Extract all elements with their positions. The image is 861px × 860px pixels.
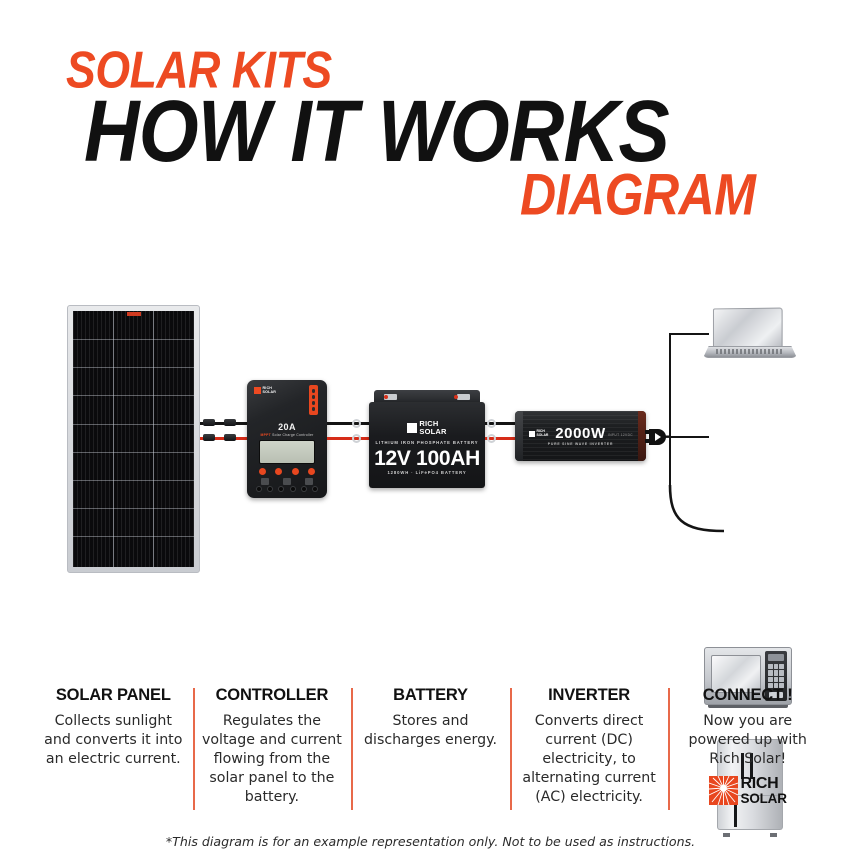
mc4-connector-negative-a	[203, 419, 215, 426]
controller-to-battery-wire-positive	[327, 437, 371, 440]
diagram-area: RICH SOLAR 20A MPPT Solar Charge Control…	[0, 250, 861, 680]
solar-panel-gridline-h	[73, 536, 194, 537]
controller-brand-text: RICH SOLAR	[263, 387, 277, 395]
footnote-disclaimer: *This diagram is for an example represen…	[0, 834, 861, 849]
battery-capacity-label: 1280WH · LiFePO4 BATTERY	[369, 470, 485, 475]
controller-led	[312, 395, 316, 399]
rich-solar-sunburst-icon	[709, 776, 738, 805]
microwave-key[interactable]	[768, 664, 773, 669]
controller-port	[301, 486, 307, 492]
column-title: INVERTER	[516, 686, 663, 705]
solar-panel-gridline-h	[73, 339, 194, 340]
mc4-connector-positive-b	[224, 434, 236, 441]
battery-body: RICH SOLAR LITHIUM IRON PHOSPHATE BATTER…	[369, 402, 485, 488]
inverter-side-label: INPUT 12VDC	[608, 433, 633, 437]
controller-status-icons	[261, 478, 313, 485]
column-title: SOLAR PANEL	[40, 686, 187, 705]
controller-led	[312, 401, 316, 405]
battery-rating-label: 12V 100AH	[369, 447, 485, 471]
battery-brand-logo: RICH SOLAR	[369, 420, 485, 435]
logo-line-solar: SOLAR	[741, 792, 787, 805]
microwave-key[interactable]	[768, 670, 773, 675]
rich-solar-logo: RICH SOLAR	[700, 776, 796, 805]
column-description: Now you are powered up with Rich Solar!	[674, 712, 821, 769]
battery: RICH SOLAR LITHIUM IRON PHOSPHATE BATTER…	[369, 390, 485, 488]
controller-button-row[interactable]	[259, 468, 315, 475]
controller-lcd-display	[259, 440, 315, 464]
solar-panel-gridline-h	[73, 395, 194, 396]
solar-kit-diagram-page: SOLAR KITS HOW IT WORKS DIAGRAM	[0, 0, 861, 860]
battery-chemistry-label: LITHIUM IRON PHOSPHATE BATTERY	[369, 440, 485, 445]
battery-status-icon	[283, 478, 291, 485]
inverter-type-label: PURE SINE WAVE INVERTER	[515, 442, 646, 446]
controller-port	[267, 486, 273, 492]
column-controller: CONTROLLER Regulates the voltage and cur…	[193, 686, 352, 807]
battery-terminal-positive	[457, 394, 470, 400]
microwave-key[interactable]	[779, 677, 784, 682]
controller-led	[312, 389, 316, 393]
controller-amperage-label: 20A	[247, 422, 327, 432]
solar-panel-gridline-h	[73, 452, 194, 453]
column-inverter: INVERTER Converts direct current (DC) el…	[510, 686, 669, 807]
ring-terminal-negative-right	[487, 419, 496, 428]
solar-panel	[67, 305, 200, 573]
rich-solar-mark-icon	[407, 423, 417, 433]
controller-type-label: MPPT Solar Charge Controller	[247, 433, 327, 437]
explanation-columns: SOLAR PANEL Collects sunlight and conver…	[34, 686, 827, 807]
title-subtitle: DIAGRAM	[520, 166, 755, 224]
ring-terminal-positive-left	[352, 434, 361, 443]
column-connect: CONNECT ! Now you are powered up with Ri…	[668, 686, 827, 807]
solar-panel-gridline-h	[73, 367, 194, 368]
column-description: Stores and discharges energy.	[357, 712, 504, 750]
mc4-connector-positive-a	[203, 434, 215, 441]
ac-branch-wire-refrigerator	[660, 485, 730, 543]
controller-port	[256, 486, 262, 492]
column-description: Converts direct current (DC) electricity…	[516, 712, 663, 807]
title-block: SOLAR KITS HOW IT WORKS DIAGRAM	[0, 0, 861, 235]
solar-panel-busbar-tab	[127, 312, 141, 316]
microwave-display	[768, 654, 784, 661]
microwave-keypad[interactable]	[768, 664, 784, 688]
solar-panel-gridline-v	[153, 311, 154, 567]
inverter: RICH SOLAR 2000W PURE SINE WAVE INVERTER…	[515, 411, 646, 461]
ac-bus-vertical-wire	[669, 333, 671, 493]
power-plug-icon	[645, 426, 671, 450]
controller-port	[312, 486, 318, 492]
explanation-section: SOLAR PANEL Collects sunlight and conver…	[0, 686, 861, 860]
column-title: CONNECT !	[674, 686, 821, 705]
controller-brand-logo: RICH SOLAR	[254, 387, 276, 395]
microwave-key[interactable]	[774, 677, 779, 682]
column-description: Regulates the voltage and current flowin…	[199, 712, 346, 807]
controller-terminal-ports	[256, 486, 318, 492]
controller-type-sub: Solar Charge Controller	[272, 433, 313, 437]
column-description: Collects sunlight and converts it into a…	[40, 712, 187, 769]
rich-solar-wordmark: RICH SOLAR	[741, 776, 787, 805]
solar-panel-gridline-h	[73, 424, 194, 425]
laptop-screen	[713, 308, 783, 349]
controller-button[interactable]	[259, 468, 266, 475]
ring-terminal-positive-right	[487, 434, 496, 443]
microwave-key[interactable]	[779, 670, 784, 675]
battery-brand-text: RICH SOLAR	[419, 420, 446, 435]
logo-line-rich: RICH	[741, 776, 787, 792]
column-title: BATTERY	[357, 686, 504, 705]
controller-to-battery-wire-negative	[327, 422, 371, 425]
solar-panel-gridline-h	[73, 508, 194, 509]
column-title: CONTROLLER	[199, 686, 346, 705]
microwave-key[interactable]	[779, 664, 784, 669]
controller-port	[278, 486, 284, 492]
laptop-base	[703, 346, 797, 358]
mc4-connector-negative-b	[224, 419, 236, 426]
column-solar-panel: SOLAR PANEL Collects sunlight and conver…	[34, 686, 193, 807]
ac-branch-wire-microwave	[669, 436, 709, 438]
laptop-keyboard	[716, 349, 784, 354]
battery-terminal-negative	[384, 394, 397, 400]
ring-terminal-negative-left	[352, 419, 361, 428]
load-status-icon	[305, 478, 313, 485]
laptop-appliance	[703, 308, 797, 358]
controller-mppt-label: MPPT	[261, 433, 271, 437]
microwave-key[interactable]	[774, 670, 779, 675]
solar-panel-gridline-h	[73, 480, 194, 481]
rich-solar-mark-icon	[254, 387, 261, 394]
solar-status-icon	[261, 478, 269, 485]
controller-led	[312, 407, 316, 411]
solar-panel-gridline-v	[113, 311, 114, 567]
microwave-key[interactable]	[768, 677, 773, 682]
controller-button[interactable]	[308, 468, 315, 475]
microwave-key[interactable]	[774, 664, 779, 669]
column-battery: BATTERY Stores and discharges energy.	[351, 686, 510, 807]
controller-port	[290, 486, 296, 492]
controller-button[interactable]	[292, 468, 299, 475]
charge-controller: RICH SOLAR 20A MPPT Solar Charge Control…	[247, 380, 327, 498]
controller-led-strip	[309, 385, 318, 415]
solar-panel-glass	[73, 311, 194, 567]
controller-button[interactable]	[275, 468, 282, 475]
solar-panel-cells	[73, 311, 194, 567]
